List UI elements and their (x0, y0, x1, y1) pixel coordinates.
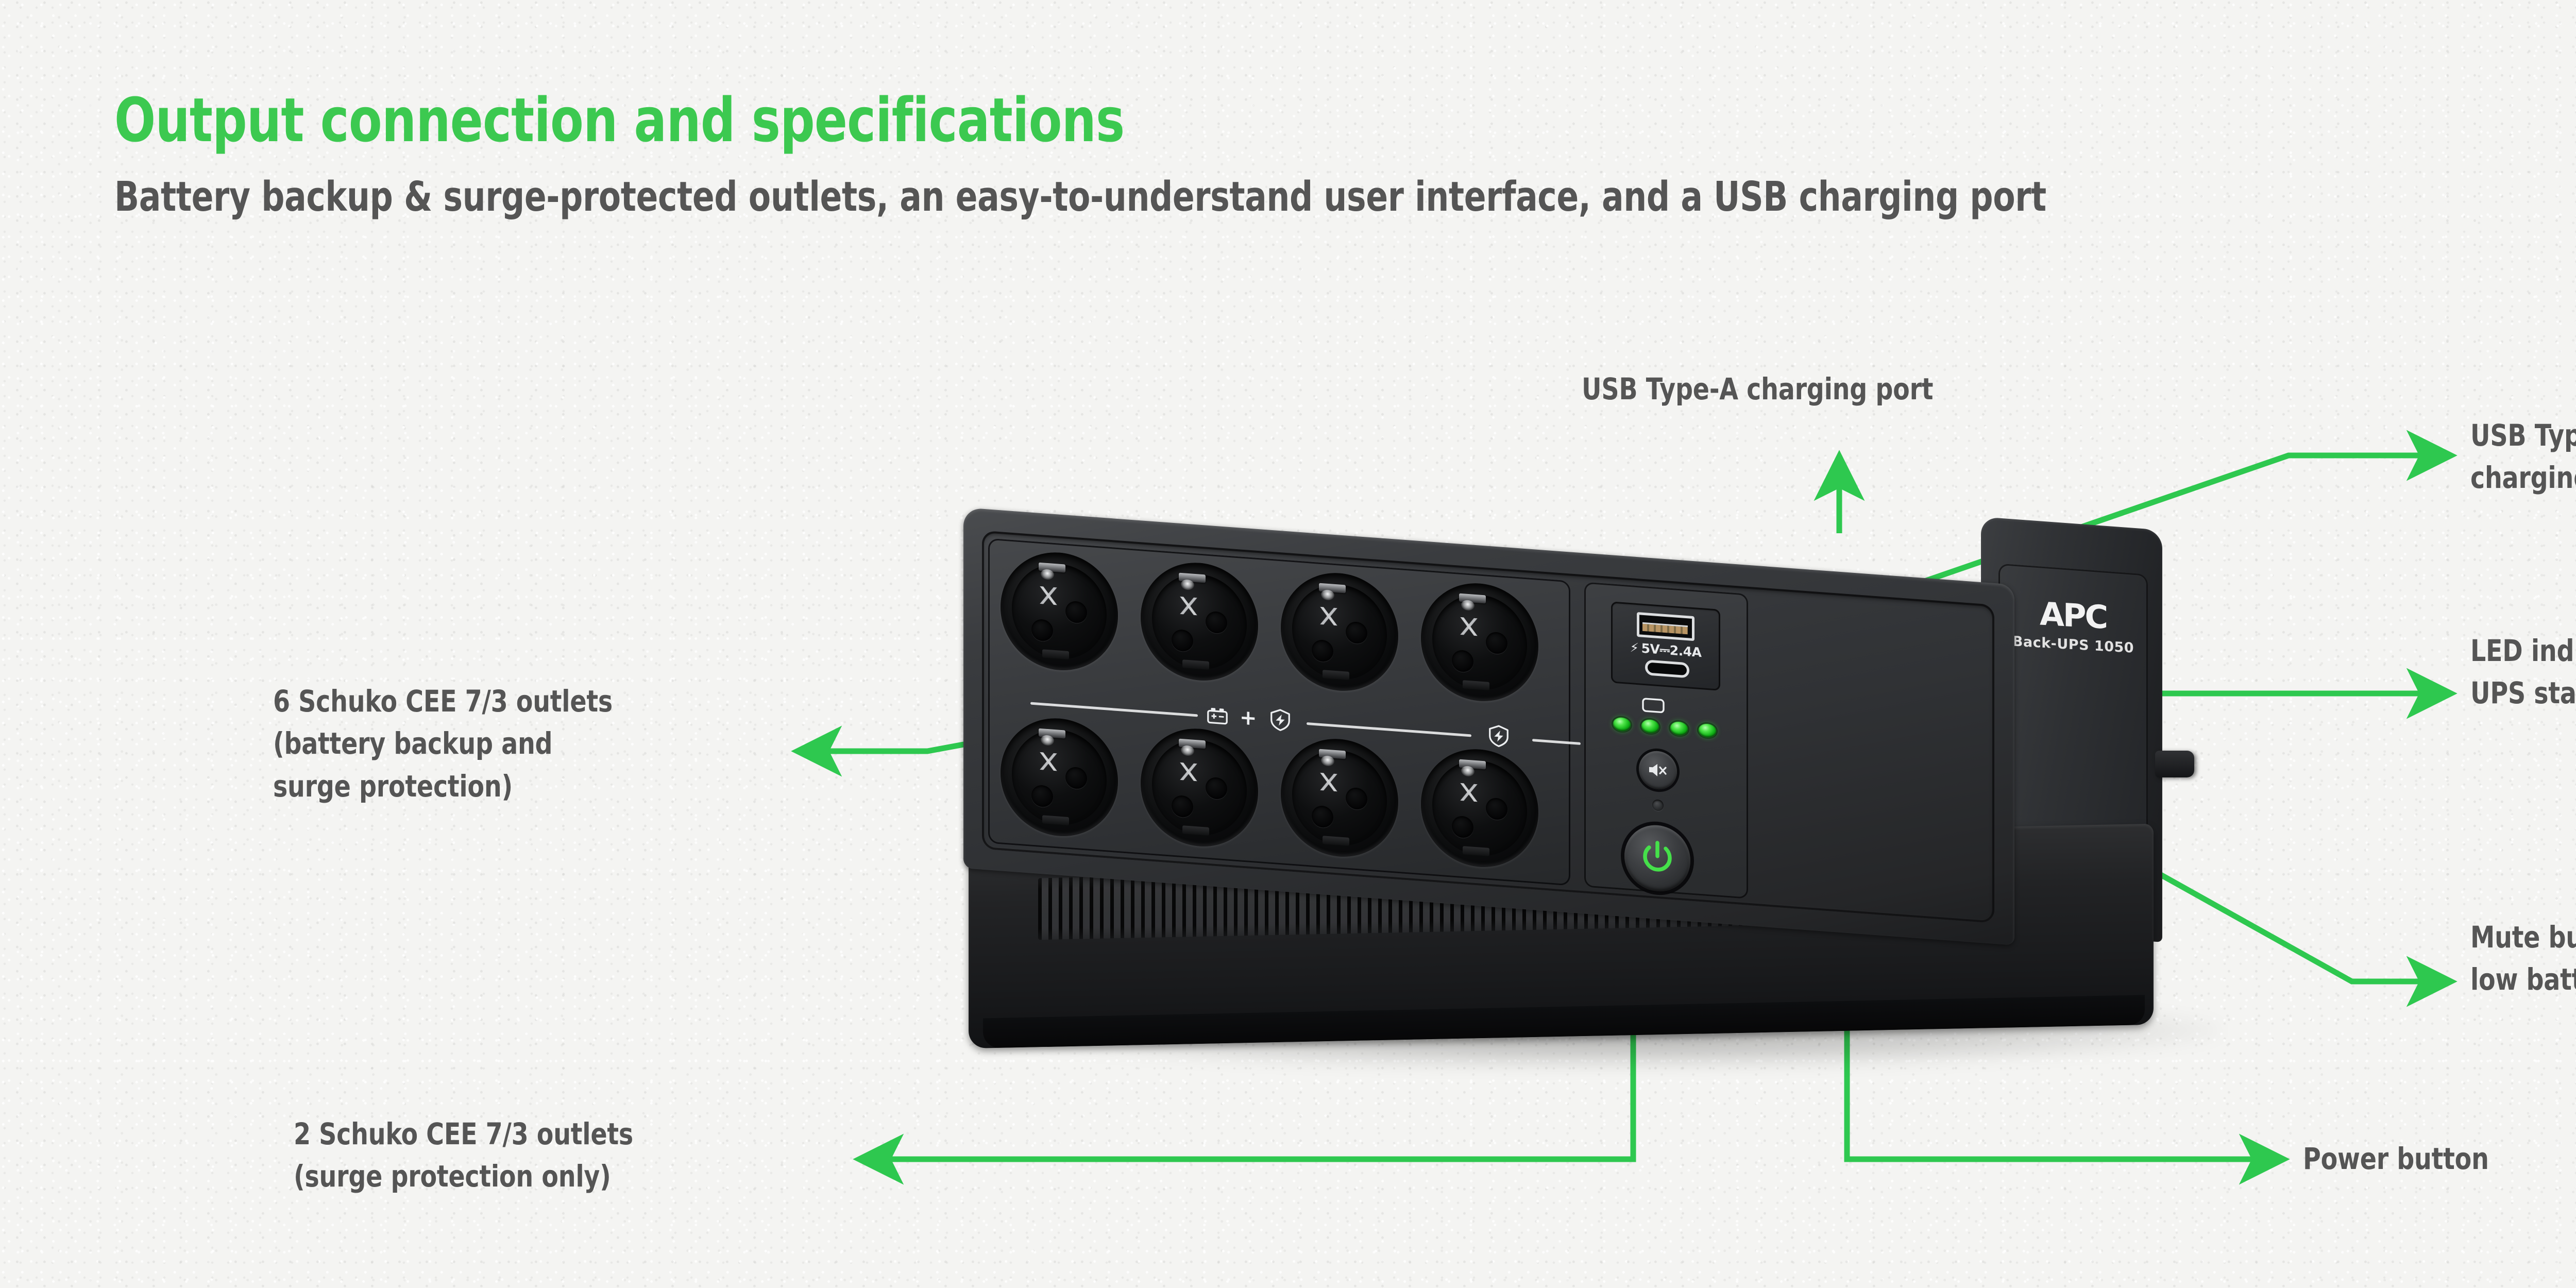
plus-sign-icon: + (1240, 706, 1257, 730)
apc-logo: APC (1998, 592, 2148, 638)
outlet-contact-glint (1318, 773, 1339, 792)
ups-device: APC Back-UPS 1050 Schneider Electric (963, 507, 2287, 1066)
usb-type-a-port[interactable] (1637, 612, 1694, 641)
outlet-pin (1346, 787, 1367, 810)
outlet-glint (1461, 600, 1475, 611)
outlet-glint (1181, 745, 1194, 756)
outlet-contact-glint (1178, 762, 1199, 782)
schuko-outlet[interactable] (1281, 569, 1398, 695)
outlet-earth-clip (1323, 670, 1349, 680)
outlet-pin (1486, 631, 1507, 654)
shield-surge-icon (1268, 707, 1292, 732)
outlet-contact-glint (1459, 783, 1479, 802)
schuko-outlet[interactable] (1421, 745, 1538, 871)
schuko-outlet[interactable] (1281, 735, 1398, 861)
battery-icon (1206, 703, 1229, 728)
led-indicator (1641, 719, 1659, 734)
page-subtitle: Battery backup & surge-protected outlets… (114, 175, 2046, 219)
outlet-contact-glint (1178, 597, 1199, 616)
control-column: ⚡5V⎓2.4A (1584, 582, 1748, 899)
device-top-face: + ⚡5V⎓2.4A (963, 507, 2014, 945)
outlet-contact-glint (1318, 607, 1339, 626)
outlet-pin (1065, 767, 1087, 790)
outlet-earth-clip (1323, 836, 1349, 846)
led-indicator (1670, 721, 1688, 736)
schuko-outlet[interactable] (1421, 579, 1538, 705)
power-button[interactable] (1624, 823, 1690, 893)
schuko-outlet[interactable] (1001, 714, 1118, 840)
divider-rule (1030, 702, 1198, 717)
outlet-pin (1312, 639, 1333, 663)
outlet-glint (1041, 569, 1054, 580)
callout-label-2-schuko-outlets: 2 Schuko CEE 7/3 outlets (surge protecti… (294, 1113, 633, 1198)
shield-surge-icon (1487, 723, 1511, 749)
usb-rating-label: ⚡5V⎓2.4A (1611, 638, 1720, 662)
outlet-contact-glint (1038, 752, 1059, 771)
power-cord-stub (2155, 751, 2194, 777)
usb-port-bezel: ⚡5V⎓2.4A (1611, 601, 1720, 691)
mute-button[interactable] (1639, 750, 1677, 790)
led-indicator-row (1613, 717, 1716, 740)
schuko-outlet[interactable] (1141, 724, 1258, 851)
outlet-pin (1486, 797, 1507, 820)
outlet-contact-glint (1038, 586, 1059, 605)
usb-rating-text: 5V⎓2.4A (1641, 641, 1702, 660)
outlet-pin (1172, 795, 1193, 818)
callout-label-6-schuko-outlets: 6 Schuko CEE 7/3 outlets (battery backup… (273, 680, 613, 807)
callout-label-mute-button: Mute button to silent low battery alarm (2470, 916, 2576, 1001)
battery-status-icon (1641, 696, 1666, 715)
outlet-earth-clip (1042, 815, 1069, 825)
callout-label-power-button: Power button (2303, 1138, 2489, 1180)
outlet-glint (1321, 755, 1334, 767)
outlet-glint (1181, 579, 1194, 590)
power-symbol-icon (1642, 840, 1673, 876)
led-indicator (1613, 717, 1631, 732)
header: Output connection and specifications Bat… (114, 89, 2529, 219)
outlet-earth-clip (1042, 649, 1069, 659)
outlet-earth-clip (1463, 846, 1489, 856)
callout-label-led-indicators: LED indicators for UPS status (2470, 630, 2576, 715)
outlet-panel: + (988, 538, 1570, 886)
callout-label-usb-type-c: USB Type-C charging port (2470, 414, 2576, 499)
usb-type-c-port[interactable] (1645, 659, 1689, 678)
outlet-pin (1206, 777, 1227, 800)
outlet-pin (1452, 816, 1473, 839)
divider-rule (1307, 722, 1471, 737)
page-title: Output connection and specifications (114, 89, 2046, 152)
schuko-outlet[interactable] (1141, 558, 1258, 685)
outlet-glint (1321, 589, 1334, 601)
outlet-earth-clip (1182, 659, 1209, 670)
outlet-pin (1312, 805, 1333, 828)
status-led-small (1652, 799, 1664, 811)
mute-speaker-icon (1648, 761, 1668, 780)
outlet-pin (1172, 629, 1193, 652)
callout-label-usb-type-a: USB Type-A charging port (1582, 368, 1933, 410)
outlet-pin (1031, 785, 1053, 808)
outlet-glint (1041, 735, 1054, 746)
outlet-pin (1452, 650, 1473, 673)
led-indicator (1699, 723, 1716, 738)
outlet-earth-clip (1463, 680, 1489, 690)
divider-rule (1532, 739, 1581, 745)
outlet-pin (1031, 619, 1053, 642)
outlet-pin (1346, 621, 1367, 644)
outlet-contact-glint (1459, 617, 1479, 636)
usb-charging-icon: ⚡ (1630, 640, 1639, 655)
outlet-pin (1065, 601, 1087, 624)
outlet-glint (1461, 766, 1475, 777)
outlet-pin (1206, 611, 1227, 634)
schuko-outlet[interactable] (1001, 548, 1118, 674)
outlet-earth-clip (1182, 825, 1209, 836)
